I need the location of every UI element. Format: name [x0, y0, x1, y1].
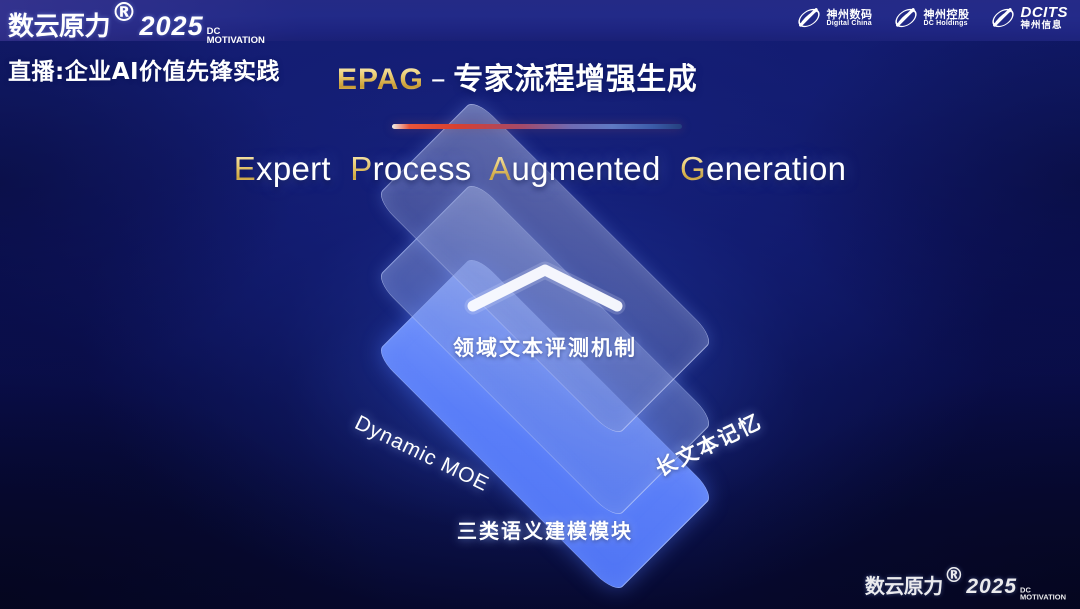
brand-logo: 数云原力® 2025 DC MOTIVATION [8, 6, 265, 46]
subtitle-rest-process: rocess [373, 150, 472, 187]
english-subtitle: Expert Process Augmented Generation [0, 150, 1080, 188]
partner-logo-group: 神州数码 Digital China 神州控股 DC Holdings [796, 5, 1069, 31]
slide-canvas: 数云原力® 2025 DC MOTIVATION 神州数码 Digital Ch… [0, 0, 1080, 609]
brand-watermark: 数云原力® 2025 DC MOTIVATION [865, 570, 1066, 602]
partner-name-cn: 神州控股 [924, 9, 970, 21]
slide-title-dash: – [431, 62, 447, 97]
subtitle-cap-p: P [350, 150, 372, 187]
subtitle-word-augmented: Augmented [489, 150, 661, 187]
brand-logo-year: 2025 [140, 11, 204, 42]
partner-label: 神州控股 DC Holdings [924, 9, 970, 28]
gradient-divider [392, 124, 682, 129]
watermark-dc: DC MOTIVATION [1020, 588, 1066, 602]
layer-label-top: 领域文本评测机制 [310, 332, 780, 362]
partner-label: DCITS 神州信息 [1021, 5, 1069, 31]
brand-logo-registered: ® [111, 0, 137, 28]
live-stream-label: 直播:企业AI价值先锋实践 [8, 52, 280, 86]
subtitle-word-expert: Expert [234, 150, 331, 187]
partner-logo-dcits: DCITS 神州信息 [990, 5, 1069, 31]
layer-label-bottom: 三类语义建模模块 [310, 515, 780, 544]
subtitle-cap-e: E [234, 150, 256, 187]
partner-logo-dc-holdings: 神州控股 DC Holdings [893, 5, 970, 31]
watermark-dc-line2: MOTIVATION [1020, 595, 1066, 602]
swoosh-icon [990, 5, 1016, 31]
subtitle-word-process: Process [350, 150, 471, 187]
layered-architecture-diagram: 领域文本评测机制 Dynamic MOE 长文本记忆 三类语义建模模块 [310, 232, 780, 557]
watermark-year: 2025 [966, 575, 1017, 599]
watermark-cn: 数云原力 [865, 570, 943, 599]
watermark-registered: ® [944, 563, 964, 587]
chevron-up-icon [465, 260, 625, 312]
slide-title: EPAG–专家流程增强生成 [337, 54, 697, 98]
slide-title-acronym: EPAG [337, 63, 424, 96]
swoosh-icon [893, 5, 919, 31]
subtitle-cap-a: A [489, 150, 511, 187]
partner-name-cn: 神州数码 [827, 9, 873, 21]
subtitle-cap-g: G [680, 150, 706, 187]
partner-logo-digital-china: 神州数码 Digital China [796, 5, 873, 31]
partner-name-en: DC Holdings [924, 20, 970, 27]
brand-logo-dc: DC MOTIVATION [207, 28, 265, 45]
partner-name-en: Digital China [827, 20, 873, 27]
partner-name-en: DCITS [1021, 5, 1069, 21]
subtitle-rest-augmented: ugmented [511, 150, 660, 187]
slide-title-chinese: 专家流程增强生成 [453, 62, 697, 97]
brand-logo-dc-line2: MOTIVATION [207, 37, 265, 46]
subtitle-rest-expert: xpert [256, 150, 331, 187]
partner-label: 神州数码 Digital China [827, 9, 873, 28]
swoosh-icon [796, 5, 822, 31]
brand-logo-cn: 数云原力 [8, 6, 110, 43]
partner-name-cn: 神州信息 [1021, 21, 1069, 31]
subtitle-word-generation: Generation [680, 150, 846, 187]
subtitle-rest-generation: eneration [706, 150, 846, 187]
